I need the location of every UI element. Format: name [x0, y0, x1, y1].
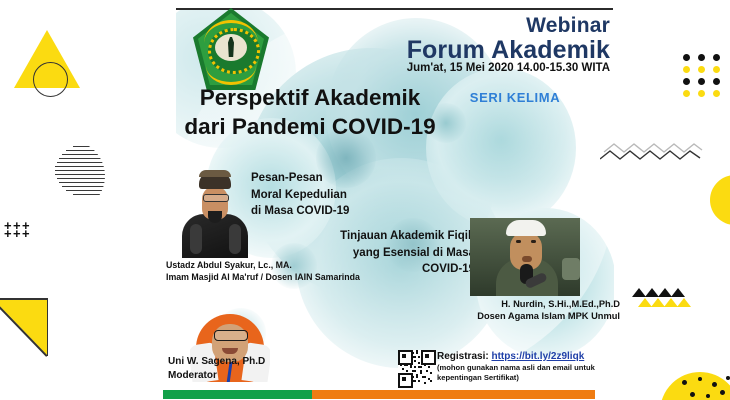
forum-akademik-title: Forum Akademik	[368, 36, 610, 65]
yellow-triangle-outline-bottom-left	[0, 298, 50, 360]
circle-outline-top-left	[33, 62, 68, 97]
speaker-photo-h-nurdin	[470, 218, 580, 296]
webinar-label: Webinar	[420, 14, 610, 38]
registration-link[interactable]: https://bit.ly/2z9liqk	[491, 351, 584, 362]
yellow-dotted-circle-bottom-right	[660, 372, 730, 400]
moderator-caption: Uni W. Sagena, Ph.D Moderator	[168, 355, 318, 382]
page-title: Perspektif Akademik dari Pandemi COVID-1…	[150, 84, 470, 142]
yellow-quarter-circle-right	[710, 175, 730, 225]
speaker-photo-abdul-syakur	[182, 166, 248, 258]
moderator-role: Moderator	[168, 369, 318, 383]
topic-line: COVID-19	[330, 261, 475, 278]
footer-bar-green	[163, 390, 312, 399]
topic-line: yang Esensial di Masa	[330, 245, 475, 262]
speaker-topic-abdul-syakur: Pesan-Pesan Moral Kepedulian di Masa COV…	[251, 170, 411, 220]
striped-half-circle-left	[55, 140, 105, 212]
dot-grid-top-right	[683, 54, 727, 98]
universitas-mulawarman-logo	[193, 8, 269, 90]
topic-line: di Masa COVID-19	[251, 203, 411, 220]
moderator-name: Uni W. Sagena, Ph.D	[168, 355, 318, 369]
speaker-affiliation: Dosen Agama Islam MPK Unmul	[420, 310, 620, 322]
plus-grid-left: +++ +++	[4, 222, 32, 240]
registration-note: (mohon gunakan nama asli dan email untuk…	[437, 363, 617, 383]
triangle-row-right	[632, 288, 682, 308]
event-datetime: Jum'at, 15 Mei 2020 14.00-15.30 WITA	[368, 62, 610, 74]
webinar-poster: +++ +++	[0, 0, 730, 400]
topic-line: Tinjauan Akademik Fiqih	[330, 228, 475, 245]
speaker-name: H. Nurdin, S.Hi.,M.Ed.,Ph.D	[420, 298, 620, 310]
speaker-caption-h-nurdin: H. Nurdin, S.Hi.,M.Ed.,Ph.D Dosen Agama …	[420, 298, 620, 323]
footer-bar-orange	[312, 390, 595, 399]
registration-qr-code[interactable]	[398, 350, 432, 384]
zigzag-lines-right	[600, 140, 704, 164]
topic-line: Pesan-Pesan	[251, 170, 411, 187]
speaker-topic-h-nurdin: Tinjauan Akademik Fiqih yang Esensial di…	[330, 228, 475, 278]
registration-note-line2: kepentingan Sertifikat)	[437, 373, 617, 383]
page-title-line2: dari Pandemi COVID-19	[150, 113, 470, 142]
topic-line: Moral Kepedulian	[251, 187, 411, 204]
page-title-line1: Perspektif Akademik	[150, 84, 470, 113]
registration-line: Registrasi: https://bit.ly/2z9liqk	[437, 351, 617, 362]
registration-note-line1: (mohon gunakan nama asli dan email untuk	[437, 363, 617, 373]
registration-label: Registrasi:	[437, 351, 489, 362]
registration-block: Registrasi: https://bit.ly/2z9liqk (moho…	[437, 351, 617, 383]
